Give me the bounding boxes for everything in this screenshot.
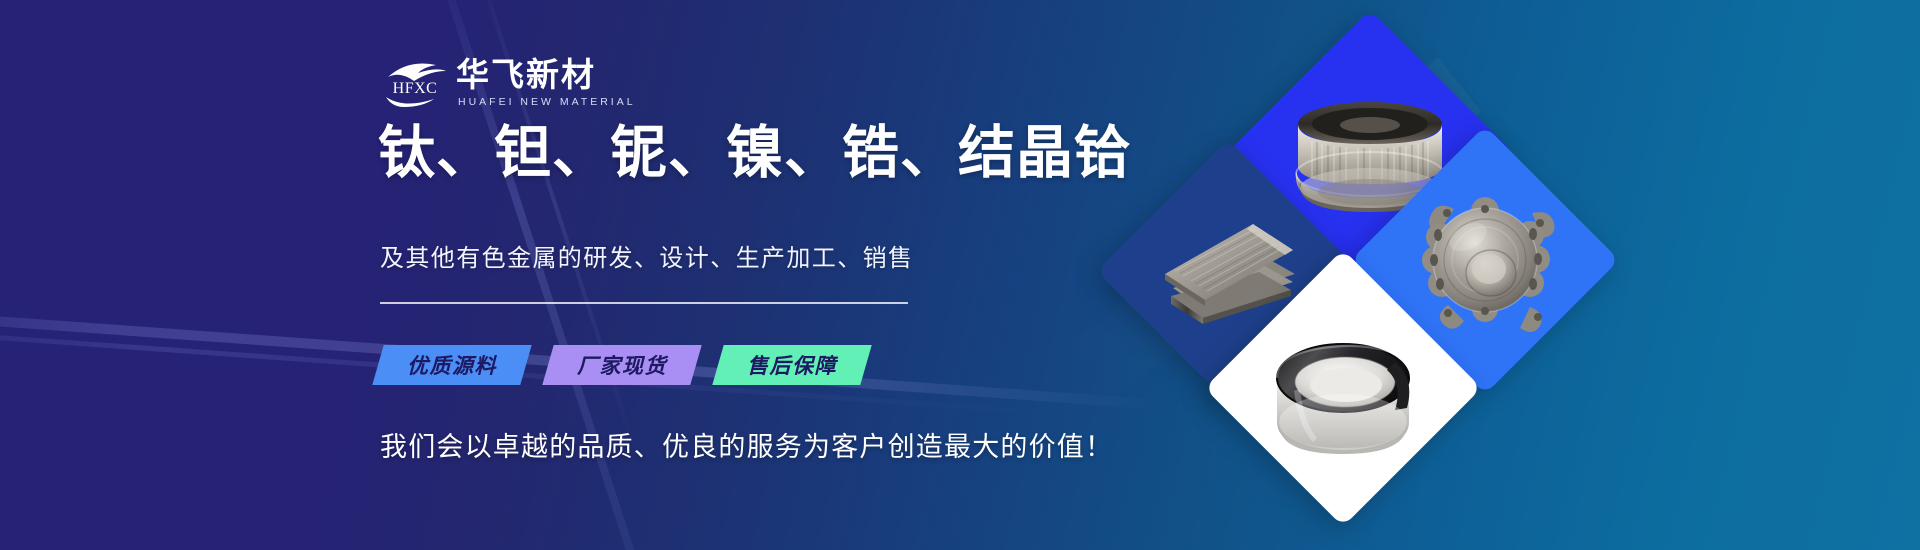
svg-text:HFXC: HFXC <box>393 80 438 97</box>
badge-label: 优质源料 <box>407 350 497 380</box>
hero-headline: 钛、钽、铌、镍、锆、结晶铪 <box>378 125 1132 182</box>
brand-name-en: HUAFEI NEW MATERIAL <box>458 96 636 108</box>
badge-quality-source[interactable]: 优质源料 <box>372 345 531 385</box>
product-image-collage <box>1060 0 1620 550</box>
badge-factory-stock[interactable]: 厂家现货 <box>542 345 701 385</box>
badge-label: 售后保障 <box>747 350 837 380</box>
feature-badge-list: 优质源料 厂家现货 售后保障 <box>378 345 866 385</box>
hero-content: HFXC 华飞新材 HUAFEI NEW MATERIAL 钛、钽、铌、镍、锆、… <box>378 0 1138 550</box>
hero-banner: HFXC 华飞新材 HUAFEI NEW MATERIAL 钛、钽、铌、镍、锆、… <box>0 0 1920 550</box>
badge-after-sales[interactable]: 售后保障 <box>712 345 871 385</box>
hero-subheadline: 及其他有色金属的研发、设计、生产加工、销售 <box>380 238 913 273</box>
brand-name-cn: 华飞新材 <box>456 58 636 93</box>
badge-label: 厂家现货 <box>577 350 667 380</box>
hfxc-swoosh-icon: HFXC <box>378 55 452 111</box>
hero-tagline: 我们会以卓越的品质、优良的服务为客户创造最大的价值！ <box>380 425 1113 464</box>
brand-logo[interactable]: HFXC 华飞新材 HUAFEI NEW MATERIAL <box>378 55 636 111</box>
metal-foil-roll-photo <box>1245 290 1441 486</box>
content-divider <box>380 302 908 304</box>
